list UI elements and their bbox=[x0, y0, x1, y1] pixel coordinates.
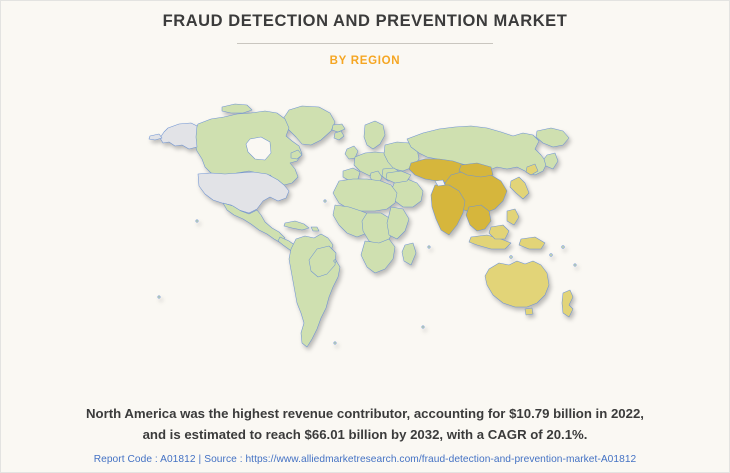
page-title: FRAUD DETECTION AND PREVENTION MARKET bbox=[1, 12, 729, 32]
market-summary: North America was the highest revenue co… bbox=[1, 404, 729, 445]
island-dot-pacific-4 bbox=[574, 264, 576, 266]
region-southern-africa bbox=[361, 239, 395, 273]
island-dot-south-2 bbox=[422, 326, 424, 328]
island-dot-pacific-2 bbox=[550, 254, 553, 257]
world-map bbox=[139, 97, 591, 361]
market-summary-line-2: and is estimated to reach $66.01 billion… bbox=[25, 425, 705, 445]
title-divider bbox=[237, 43, 493, 44]
island-dot-arctic-2 bbox=[158, 296, 160, 298]
island-dot-atlantic-1 bbox=[324, 200, 326, 202]
region-cuba-isle bbox=[311, 227, 319, 231]
island-dot-arctic-1 bbox=[196, 220, 198, 222]
world-map-container bbox=[1, 89, 729, 369]
region-greenland-isle bbox=[334, 131, 344, 140]
region-new-zealand bbox=[562, 290, 573, 317]
region-iceland bbox=[332, 124, 345, 132]
region-philippines bbox=[507, 209, 519, 225]
island-dot-indian-1 bbox=[428, 246, 430, 248]
region-scandinavia bbox=[364, 121, 385, 149]
source-line: Report Code : A01812|Source : https://ww… bbox=[1, 454, 729, 465]
region-kamchatka bbox=[544, 153, 558, 169]
region-aleutian-isles bbox=[149, 134, 162, 140]
region-caribbean bbox=[284, 221, 309, 230]
source-separator: | bbox=[196, 454, 205, 465]
region-canada-arctic-isles bbox=[222, 104, 252, 113]
region-tasmania bbox=[525, 308, 533, 315]
card-header: FRAUD DETECTION AND PREVENTION MARKET BY… bbox=[1, 1, 729, 67]
source-link[interactable]: Source : https://www.alliedmarketresearc… bbox=[204, 454, 636, 465]
region-madagascar bbox=[402, 243, 416, 265]
card-footer: North America was the highest revenue co… bbox=[1, 404, 729, 465]
region-korea-japan bbox=[510, 177, 529, 199]
region-australia bbox=[485, 261, 549, 307]
market-report-card: FRAUD DETECTION AND PREVENTION MARKET BY… bbox=[0, 0, 730, 473]
region-russia-far-east bbox=[536, 128, 569, 147]
island-dot-pacific-3 bbox=[562, 246, 565, 249]
region-new-guinea bbox=[519, 237, 545, 249]
market-summary-line-1: North America was the highest revenue co… bbox=[25, 404, 705, 424]
page-subtitle: BY REGION bbox=[1, 55, 729, 67]
island-dot-atlantic-2 bbox=[334, 260, 336, 262]
island-dot-south-1 bbox=[334, 342, 336, 344]
report-code-label: Report Code : A01812 bbox=[94, 454, 196, 465]
region-east-africa bbox=[387, 207, 409, 239]
island-dot-pacific-1 bbox=[510, 256, 513, 259]
region-greenland bbox=[283, 106, 335, 145]
region-alaska bbox=[160, 123, 197, 149]
region-india bbox=[431, 185, 465, 235]
